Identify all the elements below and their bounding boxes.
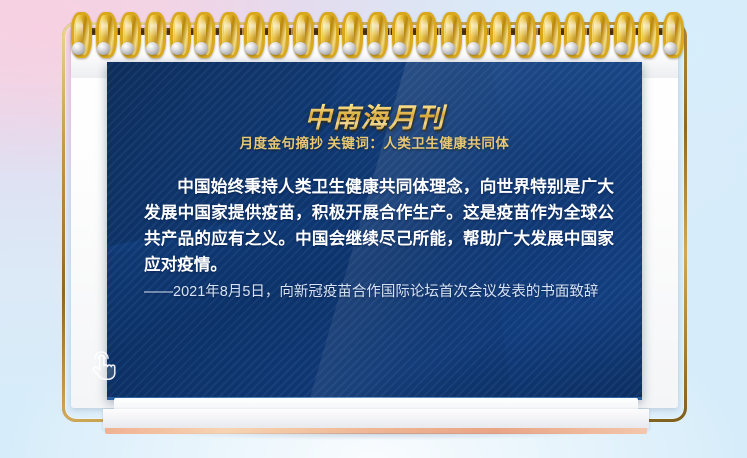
binding-ring <box>293 12 308 56</box>
binding-ring <box>441 12 456 56</box>
binding-ring-cap <box>590 42 603 55</box>
binding-ring <box>170 12 185 56</box>
binding-ring <box>367 12 382 56</box>
binding-ring-cap <box>368 42 381 55</box>
binding-ring <box>219 12 234 56</box>
binding-ring-cap <box>245 42 258 55</box>
binding-ring-cap <box>343 42 356 55</box>
binding-ring-cap <box>615 42 628 55</box>
base-front-face <box>103 409 649 429</box>
binding-ring <box>638 12 653 56</box>
binding-ring-cap <box>72 42 85 55</box>
binding-ring <box>318 12 333 56</box>
binding-ring <box>515 12 530 56</box>
binding-ring-cap <box>220 42 233 55</box>
page-subtitle: 月度金句摘抄 关键词：人类卫生健康共同体 <box>107 132 642 152</box>
content-card: 中南海月刊 月度金句摘抄 关键词：人类卫生健康共同体 中国始终秉持人类卫生健康共… <box>107 62 642 400</box>
binding-ring-cap <box>121 42 134 55</box>
spiral-binding <box>71 12 678 64</box>
binding-ring <box>71 12 86 56</box>
binding-ring <box>466 12 481 56</box>
binding-ring-cap <box>442 42 455 55</box>
binding-ring-cap <box>639 42 652 55</box>
page-title: 中南海月刊 <box>107 96 642 135</box>
binding-ring <box>416 12 431 56</box>
binding-ring-cap <box>541 42 554 55</box>
binding-ring <box>540 12 555 56</box>
binding-ring-cap <box>467 42 480 55</box>
binding-ring-cap <box>417 42 430 55</box>
binding-ring-cap <box>664 42 677 55</box>
binding-ring <box>145 12 160 56</box>
binding-ring <box>589 12 604 56</box>
binding-ring-cap <box>565 42 578 55</box>
binding-ring <box>244 12 259 56</box>
binding-ring-cap <box>516 42 529 55</box>
base-shadow <box>85 433 667 449</box>
binding-ring-cap <box>97 42 110 55</box>
binding-ring-cap <box>269 42 282 55</box>
calendar-base <box>103 398 649 436</box>
binding-ring-cap <box>294 42 307 55</box>
calendar-scene: 中南海月刊 月度金句摘抄 关键词：人类卫生健康共同体 中国始终秉持人类卫生健康共… <box>0 0 747 458</box>
binding-ring-cap <box>146 42 159 55</box>
binding-ring-cap <box>491 42 504 55</box>
touch-pointer-icon[interactable] <box>86 345 126 387</box>
card-content: 中南海月刊 月度金句摘抄 关键词：人类卫生健康共同体 中国始终秉持人类卫生健康共… <box>107 62 642 400</box>
binding-ring <box>342 12 357 56</box>
binding-ring <box>564 12 579 56</box>
binding-ring-cap <box>195 42 208 55</box>
binding-ring <box>663 12 678 56</box>
quote-attribution: ——2021年8月5日，向新冠疫苗合作国际论坛首次会议发表的书面致辞 <box>144 280 606 304</box>
binding-ring <box>268 12 283 56</box>
binding-ring-cap <box>319 42 332 55</box>
binding-ring-cap <box>171 42 184 55</box>
binding-ring <box>96 12 111 56</box>
binding-ring <box>614 12 629 56</box>
binding-ring-cap <box>393 42 406 55</box>
binding-ring <box>490 12 505 56</box>
quote-text: 中国始终秉持人类卫生健康共同体理念，向世界特别是广大发展中国家提供疫苗，积极开展… <box>144 174 614 278</box>
binding-ring <box>392 12 407 56</box>
binding-ring <box>194 12 209 56</box>
binding-ring <box>120 12 135 56</box>
